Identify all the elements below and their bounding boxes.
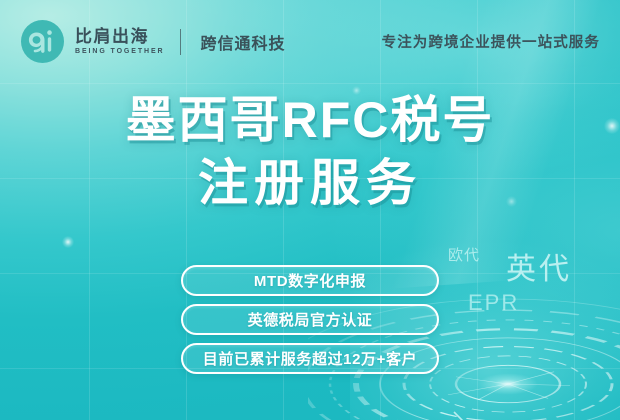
header-tagline: 专注为跨境企业提供一站式服务 [382,31,600,52]
brand-name-en: BEING TOGETHER [75,48,164,55]
feature-pill-mtd[interactable]: MTD数字化申报 [181,265,439,296]
logo-divider [180,29,181,55]
headline: 墨西哥RFC税号 注册服务 [0,88,620,214]
logo-text: 比肩出海 BEING TOGETHER [75,28,164,55]
headline-line-2: 注册服务 [0,152,620,214]
brand-name-cn: 比肩出海 [75,28,164,46]
banner-header: 比肩出海 BEING TOGETHER 跨信通科技 专注为跨境企业提供一站式服务 [0,0,620,78]
being-together-circle-logo-icon [20,19,65,64]
sub-brand-name: 跨信通科技 [200,30,285,54]
headline-line-1: 墨西哥RFC税号 [0,88,620,152]
glow-dot [62,236,74,248]
logo[interactable]: 比肩出海 BEING TOGETHER 跨信通科技 [20,19,286,64]
watermark-ou-dai: 欧代 [448,244,480,265]
feature-pill-list: MTD数字化申报 英德税局官方认证 目前已累计服务超过12万+客户 [0,265,620,374]
feature-pill-customers[interactable]: 目前已累计服务超过12万+客户 [181,343,439,374]
promo-banner: 欧代 英代 EPR [0,0,620,420]
feature-pill-official[interactable]: 英德税局官方认证 [181,304,439,335]
